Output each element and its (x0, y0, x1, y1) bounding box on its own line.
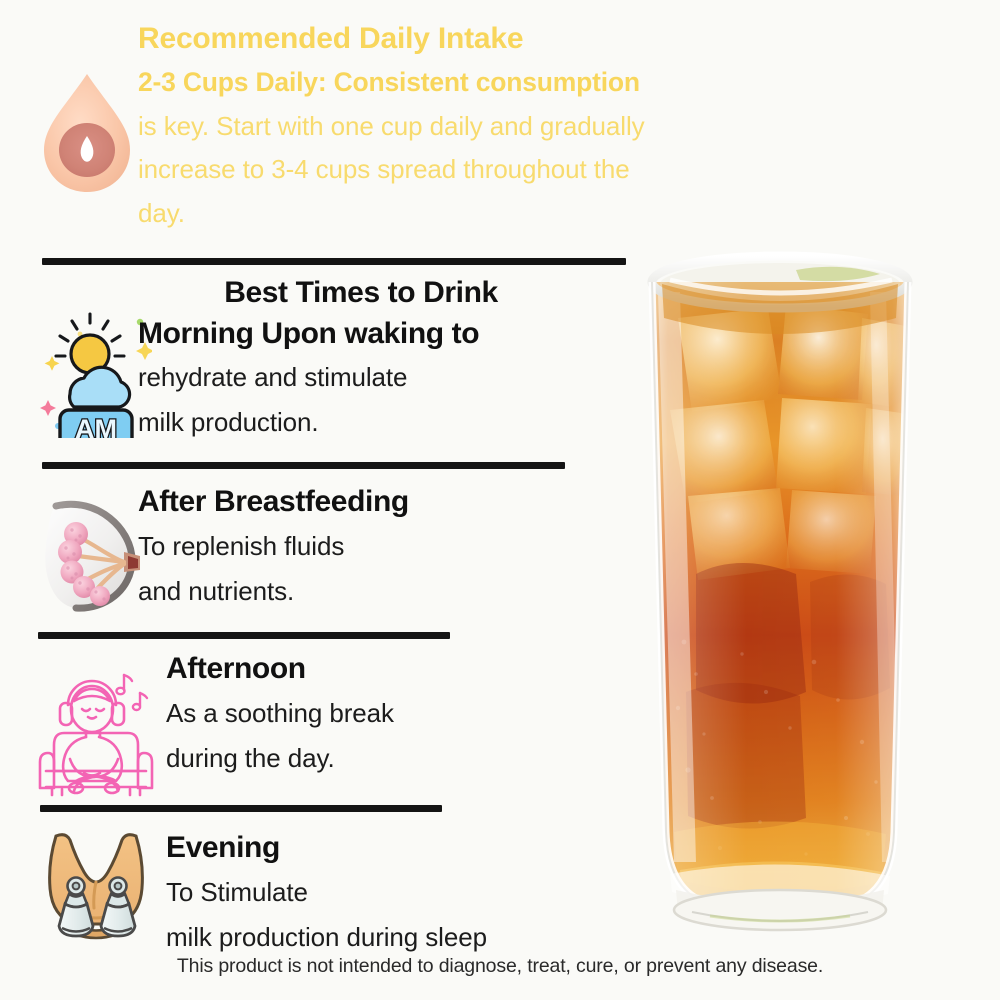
section-evening-text: Evening To Stimulate milk production dur… (166, 826, 636, 959)
divider-3 (38, 632, 450, 639)
disclaimer-text: This product is not intended to diagnose… (0, 955, 1000, 978)
relaxing-mother-headphones-icon (32, 655, 160, 797)
milk-drop-icon (32, 62, 142, 202)
section-body-line-1: To replenish fluids (138, 524, 578, 569)
svg-text:AM: AM (75, 414, 117, 438)
section-body-line-2: milk production. (138, 400, 608, 445)
section-body-line-1: To Stimulate (166, 870, 636, 915)
header-body-line-1: is key. Start with one cup daily and gra… (138, 105, 838, 149)
divider-4 (40, 805, 442, 812)
header-body-line-3: day. (138, 192, 838, 236)
iced-tea-glass-photo (600, 222, 960, 952)
section-afternoon-text: Afternoon As a soothing break during the… (166, 647, 546, 780)
header-body-line-2: increase to 3-4 cups spread throughout t… (138, 148, 838, 192)
breast-pump-icon (32, 828, 160, 952)
page-title: Recommended Daily Intake (138, 18, 838, 61)
section-body-line-2: and nutrients. (138, 569, 578, 614)
section-heading: Morning Upon waking to (138, 312, 608, 356)
header-text-block: Recommended Daily Intake 2-3 Cups Daily:… (138, 18, 838, 236)
section-heading: After Breastfeeding (138, 480, 578, 524)
infographic-page: Recommended Daily Intake 2-3 Cups Daily:… (0, 0, 1000, 1000)
section-heading: Evening (166, 826, 636, 870)
divider-2 (42, 462, 565, 469)
mammary-gland-icon (36, 490, 150, 616)
section-after-breastfeeding-text: After Breastfeeding To replenish fluids … (138, 480, 578, 613)
section-body-line-1: rehydrate and stimulate (138, 355, 608, 400)
section-overtitle: Best Times to Drink (138, 274, 584, 312)
section-heading: Afternoon (166, 647, 546, 691)
section-body-line-2: milk production during sleep (166, 915, 636, 960)
section-body-line-2: during the day. (166, 736, 546, 781)
header-lead: 2-3 Cups Daily: Consistent consumption (138, 61, 838, 105)
divider-1 (42, 258, 626, 265)
sun-cloud-am-icon: AM (40, 308, 152, 438)
section-best-times-text: Best Times to Drink Morning Upon waking … (138, 274, 608, 445)
section-body-line-1: As a soothing break (166, 691, 546, 736)
